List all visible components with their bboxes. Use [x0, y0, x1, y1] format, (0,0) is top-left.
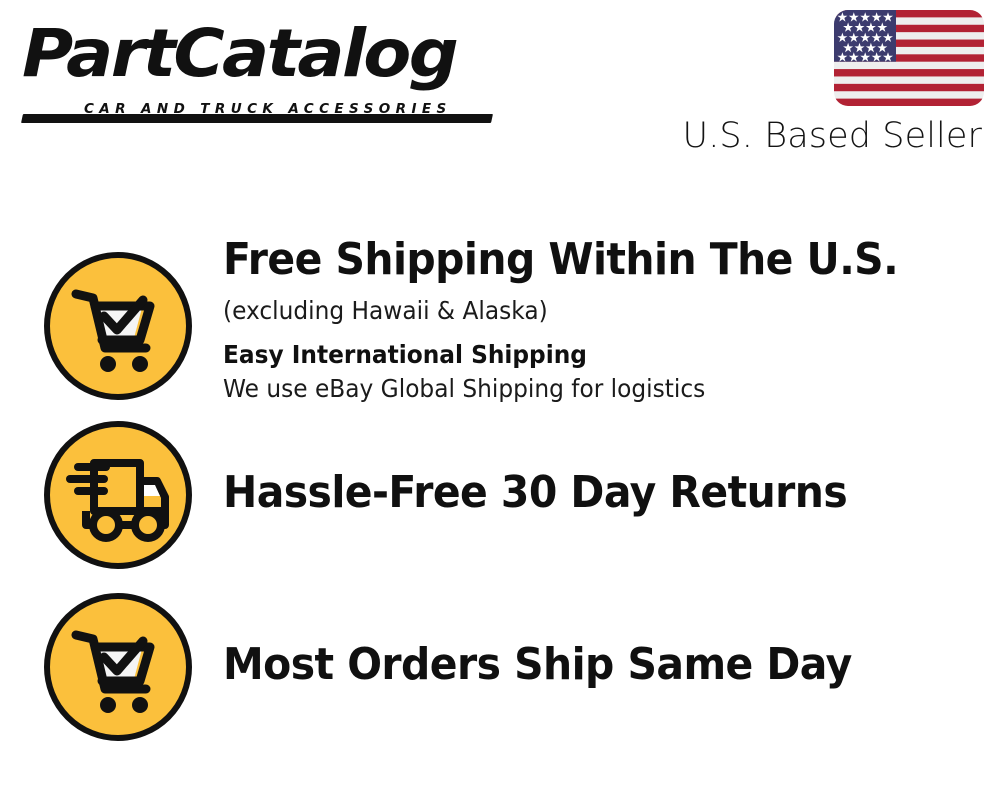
- partcatalog-logo: PartCatalog CAR AND TRUCK ACCESSORIES: [22, 18, 492, 118]
- feature-row-same-day-shipping: Most Orders Ship Same Day: [0, 593, 1000, 741]
- feature-heading: Most Orders Ship Same Day: [223, 639, 927, 691]
- feature-sub-detail: We use eBay Global Shipping for logistic…: [223, 372, 942, 406]
- logo-wordmark: PartCatalog: [22, 18, 456, 90]
- us-based-seller-label: U.S. Based Seller: [562, 115, 982, 157]
- delivery-truck-icon: [44, 421, 192, 569]
- promo-banner: PartCatalog CAR AND TRUCK ACCESSORIES: [0, 0, 1000, 800]
- feature-sub-strong: Easy International Shipping: [223, 338, 942, 372]
- feature-text-same-day: Most Orders Ship Same Day: [223, 639, 980, 691]
- feature-text-free-shipping: Free Shipping Within The U.S. (excluding…: [223, 234, 980, 406]
- logo-tagline: CAR AND TRUCK ACCESSORIES: [84, 101, 452, 117]
- us-flag-icon: [834, 10, 984, 106]
- feature-row-free-shipping: Free Shipping Within The U.S. (excluding…: [0, 252, 1000, 402]
- shopping-cart-check-icon: [44, 593, 192, 741]
- feature-heading: Free Shipping Within The U.S.: [223, 234, 927, 286]
- feature-row-returns: Hassle-Free 30 Day Returns: [0, 421, 1000, 569]
- feature-subnote: (excluding Hawaii & Alaska): [223, 294, 942, 328]
- feature-heading: Hassle-Free 30 Day Returns: [223, 467, 927, 519]
- feature-text-returns: Hassle-Free 30 Day Returns: [223, 467, 980, 519]
- shopping-cart-check-icon: [44, 252, 192, 400]
